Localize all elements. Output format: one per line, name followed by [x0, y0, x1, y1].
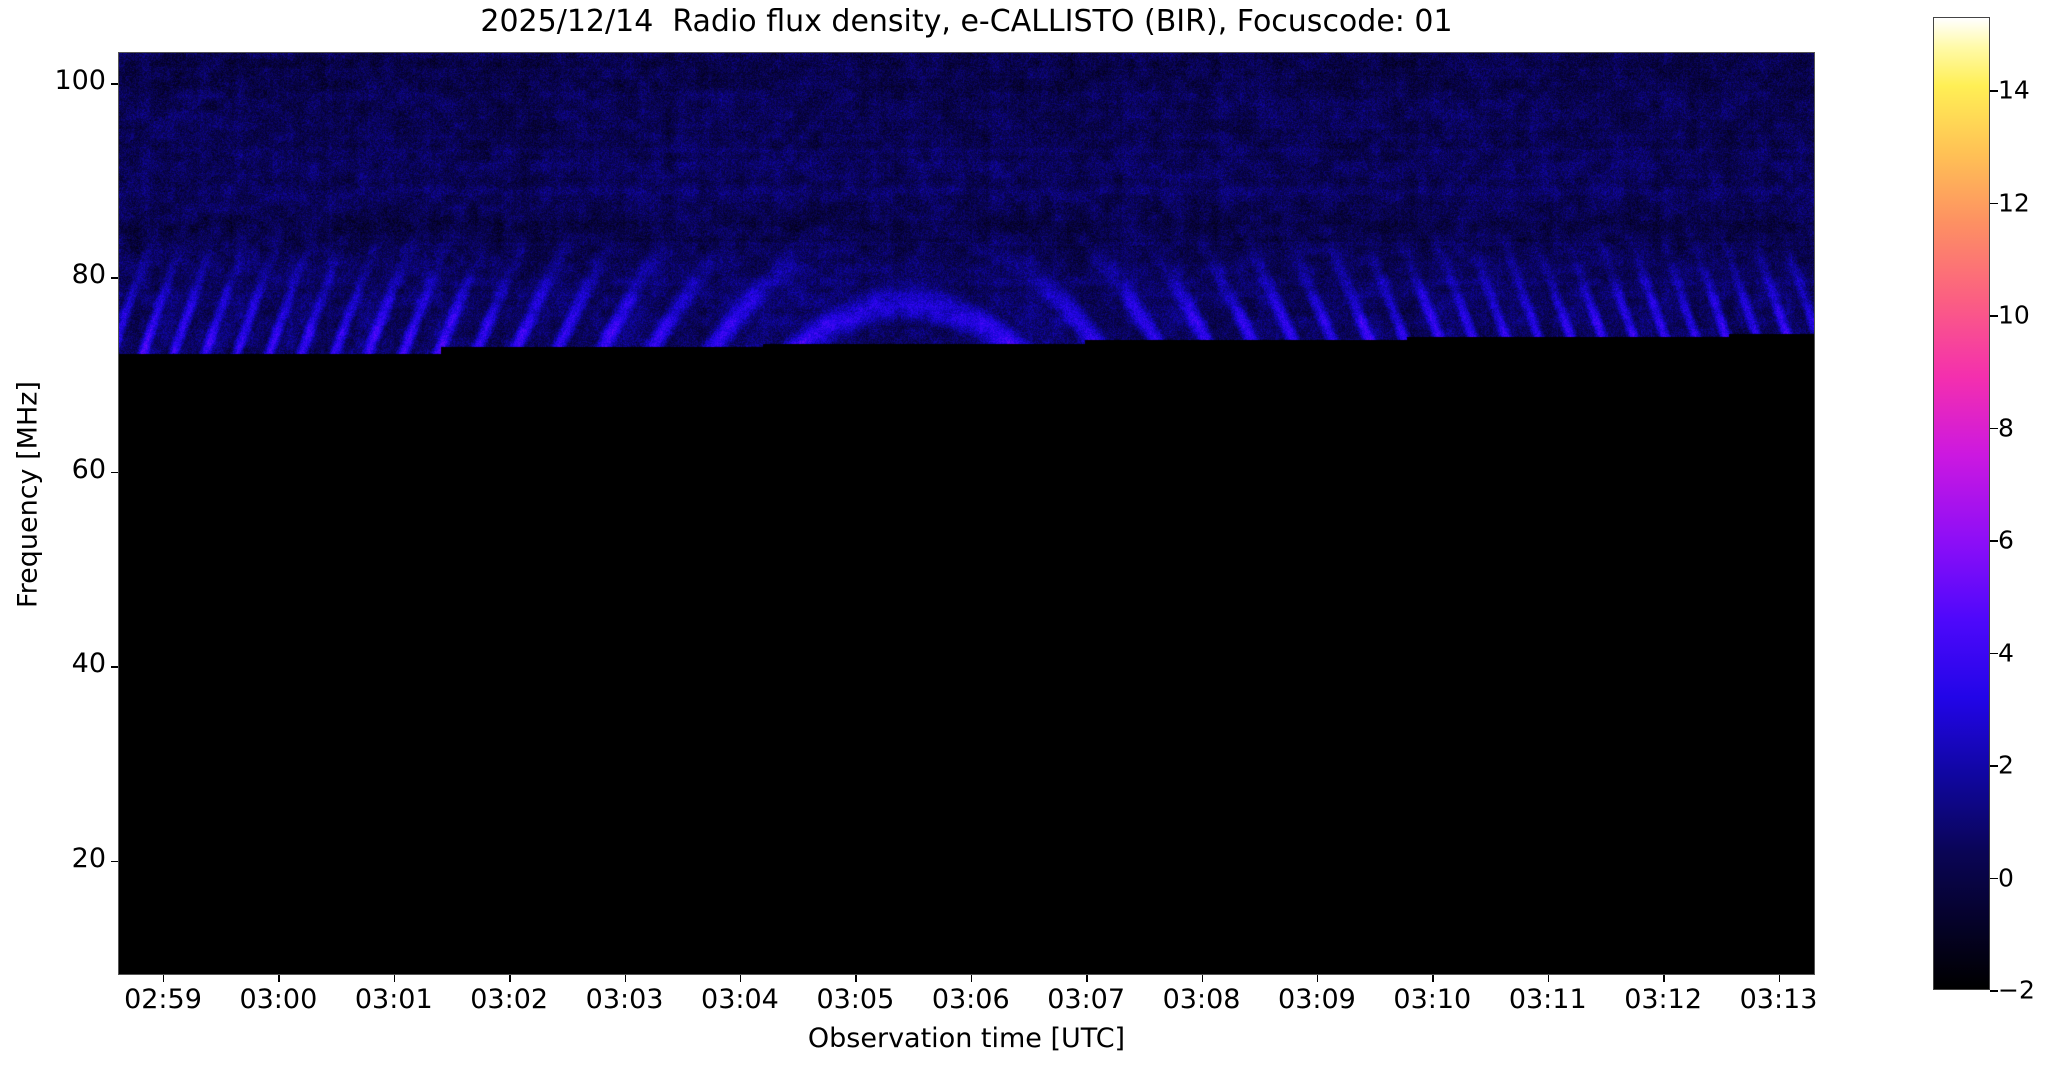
x-tick-mark — [1317, 975, 1319, 982]
y-axis-label: Frequency [MHz] — [13, 15, 44, 975]
colorbar-tick-label: 2 — [1998, 751, 2014, 780]
colorbar-tick-mark — [1990, 428, 1998, 430]
colorbar-tick-mark — [1990, 765, 1998, 767]
spectrogram-pixels — [119, 53, 1814, 974]
y-tick-mark — [111, 861, 118, 863]
y-tick-mark — [111, 666, 118, 668]
figure-canvas: 2025/12/14 Radio flux density, e-CALLIST… — [0, 0, 2066, 1067]
y-tick-mark — [111, 83, 118, 85]
x-tick-mark — [625, 975, 627, 982]
colorbar-tick-label: 0 — [1998, 863, 2014, 892]
spectrogram-image — [119, 53, 1814, 974]
colorbar-tick-mark — [1990, 653, 1998, 655]
spectrogram-axes[interactable] — [118, 52, 1815, 975]
y-tick-label: 80 — [0, 259, 106, 290]
x-tick-label: 03:13 — [1699, 984, 1859, 1015]
y-tick-label: 100 — [0, 65, 106, 96]
colorbar-tick-label: 12 — [1998, 188, 2030, 217]
x-tick-mark — [163, 975, 165, 982]
colorbar-tick-mark — [1990, 540, 1998, 542]
y-tick-mark — [111, 472, 118, 474]
x-tick-mark — [1202, 975, 1204, 982]
x-tick-mark — [1432, 975, 1434, 982]
colorbar-tick-label: 8 — [1998, 413, 2014, 442]
colorbar-tick-mark — [1990, 990, 1998, 992]
colorbar-tick-label: 14 — [1998, 76, 2030, 105]
x-tick-mark — [855, 975, 857, 982]
x-tick-mark — [509, 975, 511, 982]
colorbar-tick-mark — [1990, 315, 1998, 317]
x-tick-mark — [1548, 975, 1550, 982]
page-title: 2025/12/14 Radio flux density, e-CALLIST… — [118, 4, 1815, 40]
y-tick-label: 60 — [0, 454, 106, 485]
colorbar-tick-label: 6 — [1998, 526, 2014, 555]
x-tick-mark — [1086, 975, 1088, 982]
colorbar-tick-mark — [1990, 878, 1998, 880]
colorbar-gradient — [1934, 18, 1989, 989]
colorbar-tick-mark — [1990, 90, 1998, 92]
colorbar-tick-label: 10 — [1998, 301, 2030, 330]
y-tick-label: 20 — [0, 843, 106, 874]
x-tick-mark — [1779, 975, 1781, 982]
x-tick-mark — [1663, 975, 1665, 982]
x-tick-mark — [394, 975, 396, 982]
colorbar-tick-label: 4 — [1998, 638, 2014, 667]
x-tick-mark — [971, 975, 973, 982]
colorbar[interactable] — [1933, 17, 1990, 990]
y-tick-mark — [111, 277, 118, 279]
x-tick-mark — [278, 975, 280, 982]
y-tick-label: 40 — [0, 648, 106, 679]
colorbar-tick-label: −2 — [1998, 976, 2035, 1005]
x-axis-label: Observation time [UTC] — [118, 1023, 1815, 1054]
colorbar-tick-mark — [1990, 203, 1998, 205]
x-tick-mark — [740, 975, 742, 982]
